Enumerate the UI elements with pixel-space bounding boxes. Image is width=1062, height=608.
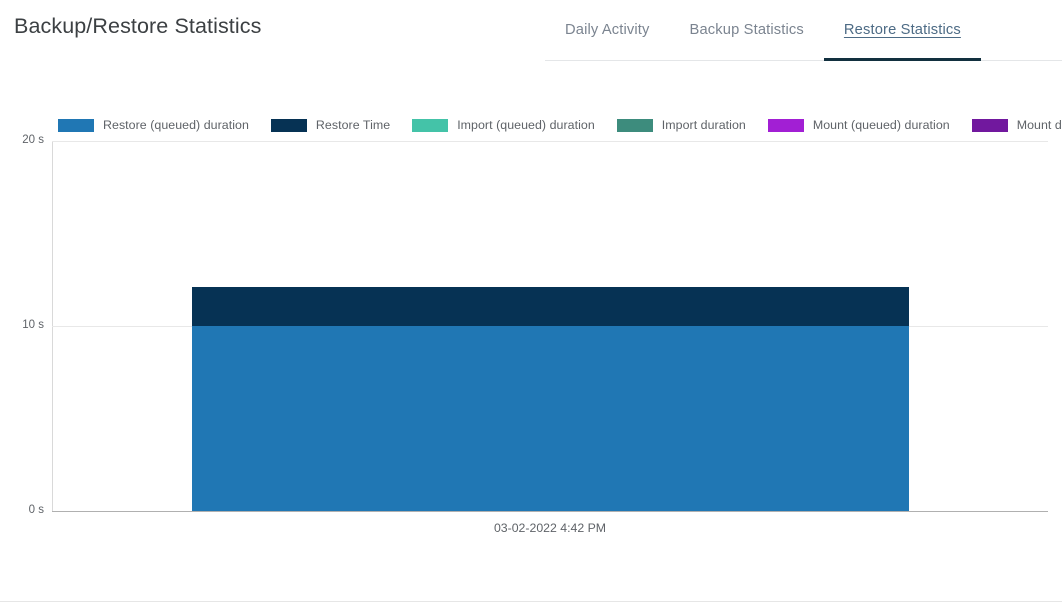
page-title: Backup/Restore Statistics xyxy=(14,14,261,39)
bar-segment[interactable] xyxy=(192,326,909,511)
legend-label: Restore Time xyxy=(316,118,390,132)
legend-label: Mount (queued) duration xyxy=(813,118,950,132)
legend-item[interactable]: Mount (queued) duration xyxy=(768,118,950,132)
tab-label: Daily Activity xyxy=(565,22,650,38)
tab-restore-statistics[interactable]: Restore Statistics xyxy=(824,0,981,60)
tab-backup-statistics[interactable]: Backup Statistics xyxy=(670,0,824,60)
y-axis-tick-label: 0 s xyxy=(4,504,44,516)
y-axis-line xyxy=(52,141,53,511)
legend-swatch-icon xyxy=(58,119,94,132)
bar-segment[interactable] xyxy=(192,287,909,326)
tab-bar: Daily ActivityBackup StatisticsRestore S… xyxy=(545,0,1062,61)
footer-divider xyxy=(0,601,1062,602)
x-axis-tick-label: 03-02-2022 4:42 PM xyxy=(400,521,700,535)
tab-daily-activity[interactable]: Daily Activity xyxy=(545,0,670,60)
legend-swatch-icon xyxy=(768,119,804,132)
legend-swatch-icon xyxy=(271,119,307,132)
backup-restore-statistics-page: Backup/Restore Statistics Daily Activity… xyxy=(0,0,1062,608)
legend-item[interactable]: Mount duration xyxy=(972,118,1062,132)
tab-label: Backup Statistics xyxy=(690,22,804,38)
restore-statistics-chart: 0 s10 s20 s03-02-2022 4:42 PM xyxy=(0,0,1062,608)
legend-label: Import duration xyxy=(662,118,746,132)
legend-label: Mount duration xyxy=(1017,118,1062,132)
page-header: Backup/Restore Statistics Daily Activity… xyxy=(0,0,1062,61)
legend-swatch-icon xyxy=(617,119,653,132)
x-axis-line xyxy=(52,511,1048,512)
y-axis-tick-label: 10 s xyxy=(4,319,44,331)
chart-legend: Restore (queued) durationRestore TimeImp… xyxy=(58,117,1062,133)
tab-label: Restore Statistics xyxy=(844,22,961,38)
legend-label: Import (queued) duration xyxy=(457,118,595,132)
y-axis-tick-label: 20 s xyxy=(4,134,44,146)
legend-item[interactable]: Import duration xyxy=(617,118,746,132)
legend-swatch-icon xyxy=(972,119,1008,132)
legend-swatch-icon xyxy=(412,119,448,132)
legend-item[interactable]: Restore (queued) duration xyxy=(58,118,249,132)
legend-label: Restore (queued) duration xyxy=(103,118,249,132)
legend-item[interactable]: Restore Time xyxy=(271,118,390,132)
legend-item[interactable]: Import (queued) duration xyxy=(412,118,595,132)
gridline xyxy=(52,141,1048,142)
